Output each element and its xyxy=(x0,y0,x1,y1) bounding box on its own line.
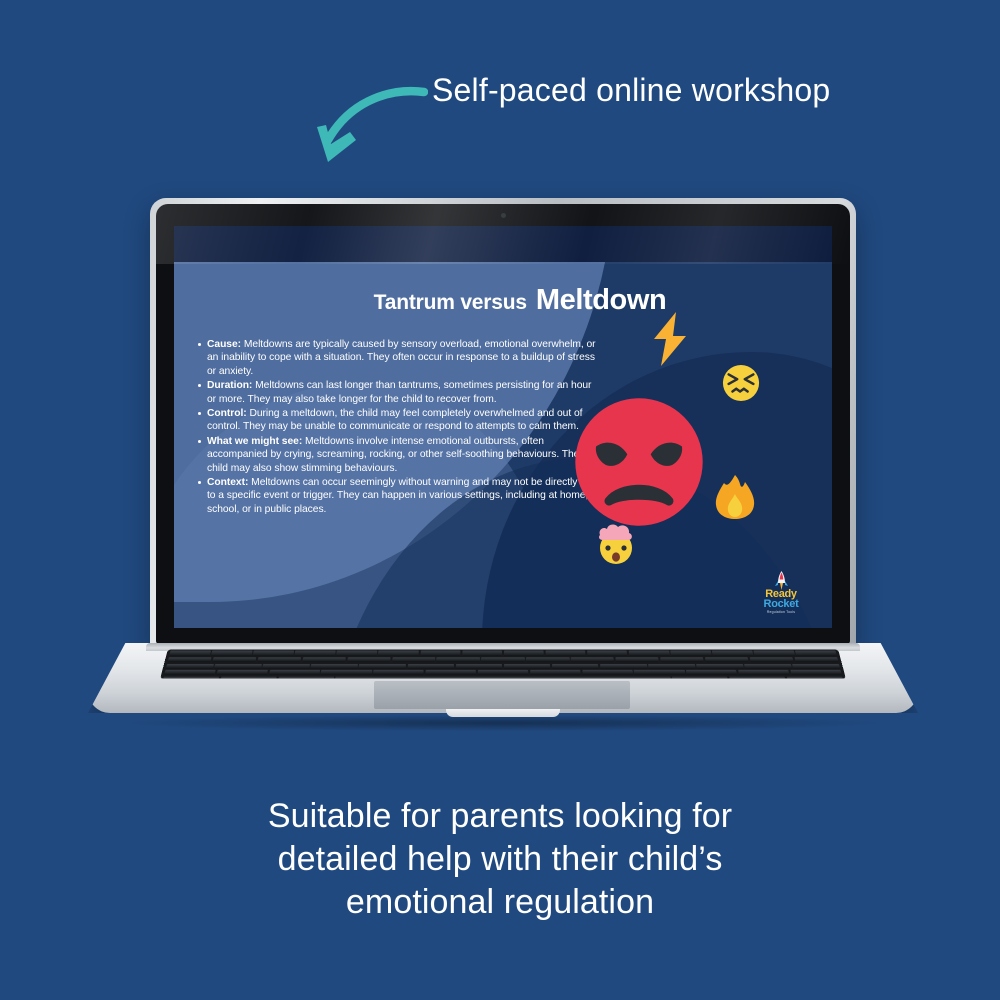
laptop-base xyxy=(88,643,918,729)
fire-emoji xyxy=(714,474,756,520)
caption-line: Suitable for parents looking for xyxy=(0,795,1000,838)
key[interactable] xyxy=(211,651,252,656)
key[interactable] xyxy=(792,664,840,669)
key[interactable] xyxy=(220,676,277,678)
key[interactable] xyxy=(634,670,685,675)
keyboard-row-spacebar[interactable] xyxy=(162,676,843,678)
key[interactable] xyxy=(600,664,647,669)
key[interactable] xyxy=(214,664,262,669)
key[interactable] xyxy=(705,657,749,662)
key[interactable] xyxy=(754,651,795,656)
slide-bullet-list: Cause: Meltdowns are typically caused by… xyxy=(196,338,598,517)
key[interactable] xyxy=(629,651,670,656)
bullet-label: Cause: xyxy=(207,339,241,350)
key[interactable] xyxy=(295,651,336,656)
key[interactable] xyxy=(216,670,268,675)
bottom-caption: Suitable for parents looking for detaile… xyxy=(0,795,1000,924)
keyboard-row[interactable] xyxy=(166,664,840,669)
curved-arrow-down-left-icon xyxy=(298,80,428,175)
keyboard-row[interactable] xyxy=(164,670,842,675)
key[interactable] xyxy=(749,657,793,662)
key[interactable] xyxy=(164,670,216,675)
key[interactable] xyxy=(392,657,436,662)
bullet-text: During a meltdown, the child may feel co… xyxy=(207,408,582,432)
key[interactable] xyxy=(478,670,529,675)
key[interactable] xyxy=(311,664,358,669)
key[interactable] xyxy=(347,657,391,662)
bullet-label: What we might see: xyxy=(207,436,302,447)
key[interactable] xyxy=(790,670,842,675)
key[interactable] xyxy=(420,651,460,656)
spacebar-key[interactable] xyxy=(335,676,671,678)
slide-title-part-a: Tantrum versus xyxy=(374,291,527,314)
key[interactable] xyxy=(686,670,737,675)
laptop-front-notch xyxy=(446,709,560,717)
key[interactable] xyxy=(504,664,551,669)
key[interactable] xyxy=(587,651,628,656)
key[interactable] xyxy=(795,651,836,656)
key[interactable] xyxy=(615,657,659,662)
slide-bullet-item: Context: Meltdowns can occur seemingly w… xyxy=(196,476,598,516)
angry-face-emoji xyxy=(574,397,704,527)
key[interactable] xyxy=(373,670,424,675)
key[interactable] xyxy=(167,657,211,662)
exploding-head-emoji xyxy=(595,522,637,566)
lightning-bolt-icon xyxy=(649,312,691,366)
webcam-icon xyxy=(501,213,506,218)
key[interactable] xyxy=(526,657,569,662)
caption-line: emotional regulation xyxy=(0,881,1000,924)
key[interactable] xyxy=(712,651,753,656)
caption-line: detailed help with their child’s xyxy=(0,838,1000,881)
keyboard-row[interactable] xyxy=(167,657,838,662)
laptop-screen[interactable]: Tantrum versusMeltdown Cause: Meltdowns … xyxy=(174,226,832,628)
key[interactable] xyxy=(359,664,406,669)
key[interactable] xyxy=(378,651,419,656)
bullet-text: Meltdowns can last longer than tantrums,… xyxy=(207,380,591,404)
key[interactable] xyxy=(787,676,844,678)
ready-rocket-logo: Ready Rocket Regulation Tools xyxy=(748,571,814,614)
key[interactable] xyxy=(571,657,615,662)
key[interactable] xyxy=(462,651,502,656)
key[interactable] xyxy=(257,657,301,662)
slide-bullet-item: Cause: Meltdowns are typically caused by… xyxy=(196,338,598,378)
key[interactable] xyxy=(455,664,502,669)
bullet-text: Meltdowns can occur seemingly without wa… xyxy=(207,477,597,515)
logo-tagline: Regulation Tools xyxy=(748,610,814,614)
keyboard[interactable] xyxy=(160,650,846,679)
key[interactable] xyxy=(660,657,704,662)
key[interactable] xyxy=(696,664,743,669)
key[interactable] xyxy=(253,651,294,656)
key[interactable] xyxy=(336,651,377,656)
key[interactable] xyxy=(648,664,695,669)
promo-headline: Self-paced online workshop xyxy=(432,72,952,109)
key[interactable] xyxy=(582,670,633,675)
key[interactable] xyxy=(262,664,309,669)
laptop-lid: Tantrum versusMeltdown Cause: Meltdowns … xyxy=(150,198,856,650)
laptop-mockup: Tantrum versusMeltdown Cause: Meltdowns … xyxy=(88,198,918,728)
key[interactable] xyxy=(729,676,786,678)
key[interactable] xyxy=(552,664,599,669)
key[interactable] xyxy=(504,651,544,656)
slide-title-part-b: Meltdown xyxy=(536,284,667,316)
logo-word-rocket: Rocket xyxy=(748,599,814,609)
key[interactable] xyxy=(162,676,219,678)
slide-bullet-item: Control: During a meltdown, the child ma… xyxy=(196,407,598,434)
laptop-bezel: Tantrum versusMeltdown Cause: Meltdowns … xyxy=(156,204,850,644)
bullet-label: Context: xyxy=(207,477,248,488)
key[interactable] xyxy=(437,657,480,662)
laptop-drop-shadow xyxy=(128,715,878,731)
key[interactable] xyxy=(738,670,790,675)
bullet-label: Control: xyxy=(207,408,247,419)
key[interactable] xyxy=(670,651,711,656)
slide-bullet-item: Duration: Meltdowns can last longer than… xyxy=(196,379,598,406)
keyboard-row[interactable] xyxy=(169,651,837,656)
bullet-text: Meltdowns are typically caused by sensor… xyxy=(207,339,596,377)
key[interactable] xyxy=(530,670,581,675)
slide-title: Tantrum versusMeltdown xyxy=(174,284,832,317)
key[interactable] xyxy=(321,670,372,675)
key[interactable] xyxy=(269,670,320,675)
key[interactable] xyxy=(407,664,454,669)
key[interactable] xyxy=(302,657,346,662)
key[interactable] xyxy=(545,651,585,656)
key[interactable] xyxy=(166,664,214,669)
confounded-face-emoji xyxy=(722,364,760,402)
key[interactable] xyxy=(278,676,335,678)
key[interactable] xyxy=(481,657,524,662)
key[interactable] xyxy=(744,664,792,669)
slide-bullet-item: What we might see: Meltdowns involve int… xyxy=(196,435,598,475)
trackpad[interactable] xyxy=(374,681,630,709)
key[interactable] xyxy=(425,670,476,675)
logo-wordmark: Ready Rocket xyxy=(748,589,814,609)
slide-topbar xyxy=(174,226,832,262)
key[interactable] xyxy=(672,676,729,678)
key[interactable] xyxy=(212,657,256,662)
key[interactable] xyxy=(794,657,838,662)
bullet-label: Duration: xyxy=(207,380,252,391)
slide-content: Tantrum versusMeltdown Cause: Meltdowns … xyxy=(174,262,832,628)
key[interactable] xyxy=(169,651,210,656)
